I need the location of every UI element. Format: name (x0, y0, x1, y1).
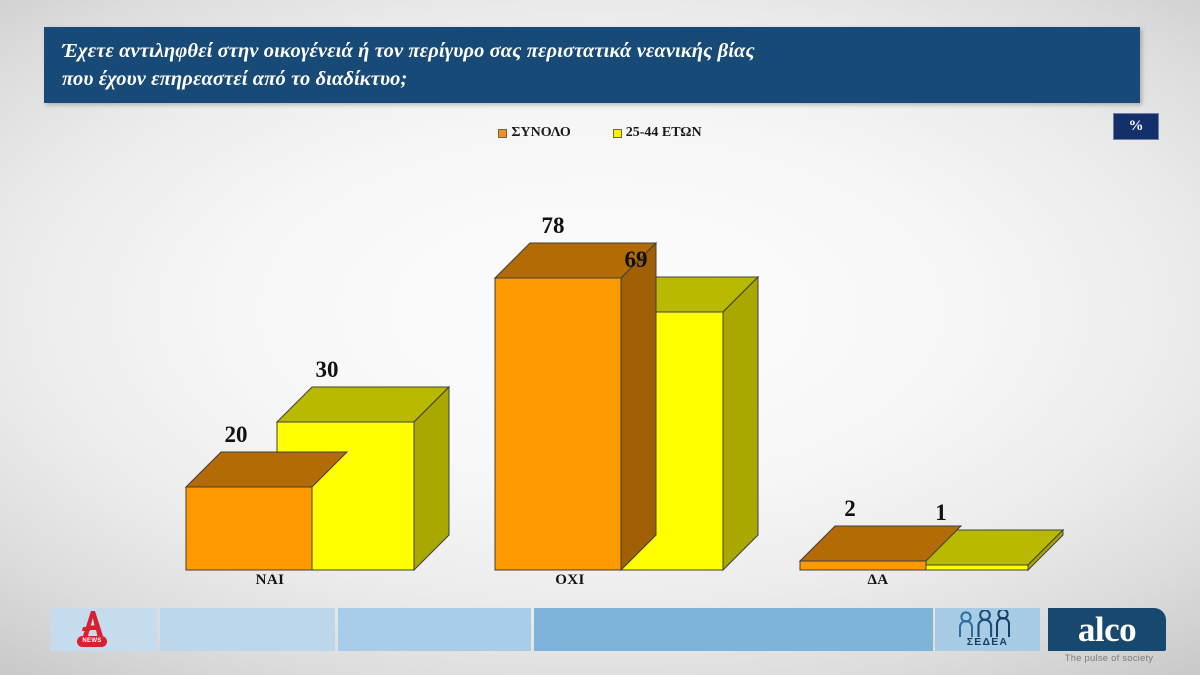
bar-group-da: 2 1 (800, 170, 1015, 570)
bar-label-oxi-total: 78 (525, 213, 581, 239)
legend-item-age-25-44[interactable]: 25-44 ΕΤΩΝ (613, 125, 702, 141)
title-banner: Έχετε αντιληφθεί στην οικογένειά ή τον π… (44, 27, 1140, 103)
page-title: Έχετε αντιληφθεί στην οικογένειά ή τον π… (62, 37, 1140, 93)
legend-swatch-age-25-44 (613, 129, 622, 138)
footer-segment-4 (534, 608, 933, 651)
category-label-nai: ΝΑΙ (205, 572, 335, 589)
anews-a-icon (72, 610, 114, 638)
anews-badge: NEWS (77, 636, 107, 647)
bar-group-oxi: 78 69 (495, 170, 710, 570)
bar-label-oxi-age-25-44: 69 (608, 247, 664, 273)
bar-oxi-total[interactable] (495, 278, 621, 570)
bar-nai-total[interactable] (186, 487, 312, 570)
legend-item-total[interactable]: ΣΥΝΟΛΟ (498, 125, 570, 141)
category-label-da: ΔΑ (813, 572, 943, 589)
legend-swatch-total (498, 129, 507, 138)
sedea-people-icon (955, 610, 1021, 638)
bar-label-nai-age-25-44: 30 (299, 357, 355, 383)
bar-label-da-total: 2 (822, 496, 878, 522)
category-label-oxi: ΟΧΙ (505, 572, 635, 589)
footer-bar: ΣΕΔΕΑ alco The pulse of society (0, 608, 1200, 656)
alco-tagline: The pulse of society (1048, 653, 1170, 664)
bar-da-total[interactable] (800, 561, 926, 570)
legend-label-age-25-44: 25-44 ΕΤΩΝ (626, 125, 702, 141)
chart-plot-area: 20 30 78 69 (0, 150, 1200, 570)
legend-label-total: ΣΥΝΟΛΟ (511, 125, 570, 141)
bar-label-da-age-25-44: 1 (913, 500, 969, 526)
alco-logo: alco (1048, 608, 1166, 651)
slide-canvas: Έχετε αντιληφθεί στην οικογένειά ή τον π… (0, 0, 1200, 675)
footer-segment-2 (160, 608, 335, 651)
footer-segment-3 (338, 608, 531, 651)
anews-logo: NEWS (72, 610, 114, 650)
sedea-label: ΣΕΔΕΑ (935, 636, 1040, 648)
alco-wordmark: alco (1048, 609, 1166, 650)
sedea-logo: ΣΕΔΕΑ (935, 608, 1040, 651)
bar-label-nai-total: 20 (208, 422, 264, 448)
bar-group-nai: 20 30 (186, 170, 401, 570)
chart-legend: ΣΥΝΟΛΟ 25-44 ΕΤΩΝ (0, 125, 1200, 141)
